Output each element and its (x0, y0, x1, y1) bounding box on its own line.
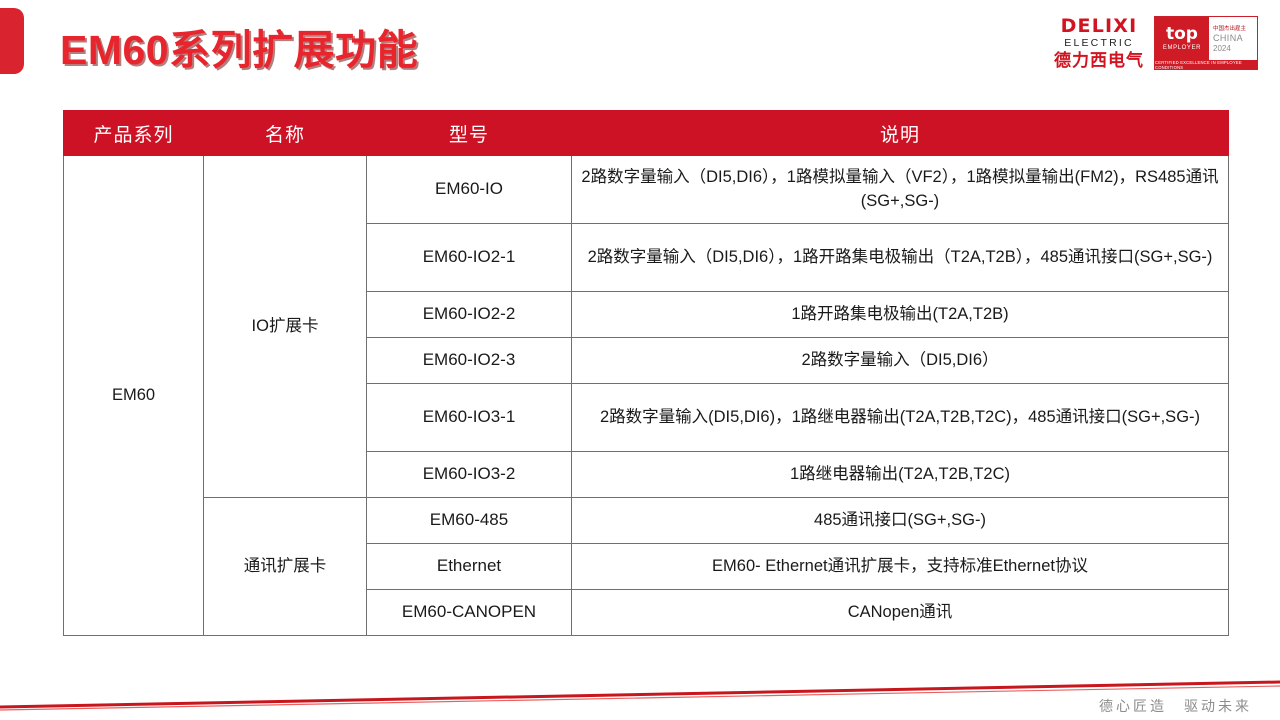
badge-employer-label: EMPLOYER (1163, 45, 1201, 51)
delixi-wordmark-sub: ELECTRIC (1064, 38, 1134, 49)
cell-description: 485通讯接口(SG+,SG-) (572, 498, 1229, 544)
cell-description: 1路开路集电极输出(T2A,T2B) (572, 292, 1229, 338)
footer-slogan: 德心匠造 驱动未来 (1099, 696, 1252, 716)
badge-detail-block: 中国杰出雇主 CHINA 2024 (1209, 17, 1257, 60)
badge-year: 2024 (1213, 44, 1257, 54)
badge-cn-line: 中国杰出雇主 (1213, 26, 1257, 33)
cell-model: EM60-485 (367, 498, 572, 544)
page-title: EM60系列扩展功能 (60, 16, 418, 76)
header-name: 名称 (204, 111, 367, 156)
cell-description: 2路数字量输入（DI5,DI6），1路模拟量输入（VF2），1路模拟量输出(FM… (572, 156, 1229, 224)
cell-description: 2路数字量输入(DI5,DI6)，1路继电器输出(T2A,T2B,T2C)，48… (572, 384, 1229, 452)
table-header-row: 产品系列 名称 型号 说明 (64, 111, 1229, 156)
footer-decorative-line (0, 660, 1280, 720)
badge-logo-block: top EMPLOYER (1155, 17, 1209, 60)
expansion-spec-table: 产品系列 名称 型号 说明 EM60 IO扩展卡 EM60-IO 2路数字量输入… (63, 110, 1229, 636)
badge-top-word: top (1166, 26, 1198, 43)
cell-description: 1路继电器输出(T2A,T2B,T2C) (572, 452, 1229, 498)
cell-description: EM60- Ethernet通讯扩展卡，支持标准Ethernet协议 (572, 544, 1229, 590)
badge-upper: top EMPLOYER 中国杰出雇主 CHINA 2024 (1155, 17, 1257, 60)
table-row: 通讯扩展卡 EM60-485 485通讯接口(SG+,SG-) (64, 498, 1229, 544)
cell-description: 2路数字量输入（DI5,DI6） (572, 338, 1229, 384)
cell-model: EM60-IO3-2 (367, 452, 572, 498)
header-description: 说明 (572, 111, 1229, 156)
cell-model: EM60-IO2-2 (367, 292, 572, 338)
cell-model: EM60-IO (367, 156, 572, 224)
badge-country: CHINA (1213, 33, 1257, 44)
cell-model: EM60-CANOPEN (367, 590, 572, 636)
cell-group-name-io: IO扩展卡 (204, 156, 367, 498)
title-accent-bar (0, 8, 24, 74)
delixi-wordmark-cn: 德力西电气 (1054, 52, 1144, 69)
delixi-wordmark: DELIXI (1061, 17, 1138, 36)
cell-model: EM60-IO3-1 (367, 384, 572, 452)
cell-description: CANopen通讯 (572, 590, 1229, 636)
header-model: 型号 (367, 111, 572, 156)
brand-logo-group: DELIXI ELECTRIC 德力西电气 top EMPLOYER 中国杰出雇… (1054, 16, 1258, 70)
cell-group-name-comm: 通讯扩展卡 (204, 498, 367, 636)
badge-certification-strip: CERTIFIED EXCELLENCE IN EMPLOYEE CONDITI… (1155, 60, 1257, 69)
cell-model: EM60-IO2-1 (367, 224, 572, 292)
cell-model: EM60-IO2-3 (367, 338, 572, 384)
cell-description: 2路数字量输入（DI5,DI6），1路开路集电极输出（T2A,T2B），485通… (572, 224, 1229, 292)
cell-series: EM60 (64, 156, 204, 636)
cell-model: Ethernet (367, 544, 572, 590)
delixi-logo: DELIXI ELECTRIC 德力西电气 (1054, 17, 1144, 69)
table-row: EM60 IO扩展卡 EM60-IO 2路数字量输入（DI5,DI6），1路模拟… (64, 156, 1229, 224)
header-series: 产品系列 (64, 111, 204, 156)
top-employer-badge: top EMPLOYER 中国杰出雇主 CHINA 2024 CERTIFIED… (1154, 16, 1258, 70)
